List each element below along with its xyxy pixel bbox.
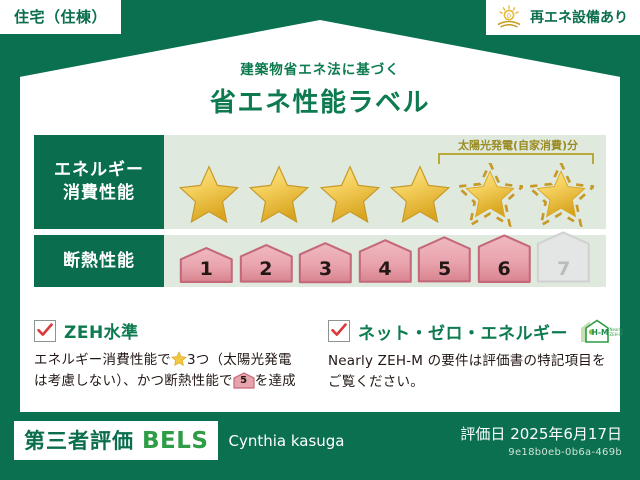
net-zero-energy-block: ネット・ゼロ・エネルギー H-M Nearly ZEH-M Nearly ZEH… [328, 318, 606, 393]
zeh-m-logo-icon: H-M Nearly ZEH-M [578, 318, 624, 344]
insulation-performance-row: 断熱性能 1234567 [34, 235, 606, 287]
renewable-badge-label: 再エネ設備あり [530, 7, 628, 27]
zeh-desc-stars: 3つ（太陽光発電 [187, 352, 292, 368]
renewable-equipment-badge: D 再エネ設備あり [486, 0, 640, 35]
insulation-grade-number: 4 [357, 258, 414, 280]
net-zero-energy-title: ネット・ゼロ・エネルギー [358, 319, 568, 344]
inline-star-icon [171, 351, 187, 367]
energy-stars [164, 163, 606, 227]
insulation-grade-house: 5 [416, 234, 473, 285]
insulation-grade-house: 1 [178, 245, 235, 285]
insulation-grade-number: 3 [297, 258, 354, 280]
energy-rating-area: 太陽光発電(自家消費)分 [164, 135, 606, 229]
zeh-standard-header: ZEH水準 [34, 318, 312, 343]
zeh-desc-part1: エネルギー消費性能で [34, 352, 171, 368]
building-owner-name: Cynthia kasuga [228, 432, 344, 450]
zeh-standard-title: ZEH水準 [64, 318, 139, 343]
zeh-standard-checkbox[interactable] [34, 320, 56, 342]
net-zero-energy-description: Nearly ZEH-M の要件は評価書の特記項目をご覧ください。 [328, 351, 606, 393]
star-icon [246, 163, 312, 227]
solar-portion-note: 太陽光発電(自家消費)分 [438, 137, 598, 153]
bels-section: 第三者評価 BELS Cynthia kasuga [14, 421, 345, 460]
solar-star-icon [457, 163, 523, 227]
energy-label-line2: 消費性能 [63, 182, 135, 205]
inline-house-badge: 5 [233, 372, 255, 389]
inline-house-number: 5 [233, 373, 255, 389]
check-icon [36, 321, 54, 339]
energy-performance-label: 住宅（住棟） D 再エネ設備あり 建築物省エネ法に基づく 省エネ性能ラベル エ [0, 0, 640, 480]
energy-performance-label-block: エネルギー 消費性能 [34, 135, 164, 229]
evaluation-id: 9e18b0eb-0b6a-469b [460, 447, 622, 458]
bels-badge: 第三者評価 BELS [14, 421, 218, 460]
svg-text:H-M: H-M [592, 328, 609, 337]
bels-jp-label: 第三者評価 [24, 425, 134, 455]
label-title: 建築物省エネ法に基づく 省エネ性能ラベル [0, 58, 640, 119]
insulation-grade-house: 7 [535, 229, 592, 285]
zeh-desc-part2: は考慮しない）、かつ断熱性能で [34, 373, 233, 389]
insulation-grade-number: 6 [476, 258, 533, 280]
title-subtitle: 建築物省エネ法に基づく [0, 58, 640, 78]
zeh-desc-part3: を達成 [255, 373, 296, 389]
title-main: 省エネ性能ラベル [0, 82, 640, 119]
evaluation-date: 評価日 2025年6月17日 [460, 423, 622, 444]
insulation-label: 断熱性能 [63, 250, 135, 273]
criteria-section: ZEH水準 エネルギー消費性能で3つ（太陽光発電 は考慮しない）、かつ断熱性能で… [34, 318, 606, 393]
sun-icon: D [494, 5, 524, 29]
performance-panel: エネルギー 消費性能 太陽光発電(自家消費)分 断熱性能 1234567 [34, 135, 606, 287]
net-zero-energy-checkbox[interactable] [328, 320, 350, 342]
insulation-grades: 1234567 [164, 235, 606, 287]
svg-text:ZEH-M: ZEH-M [609, 332, 623, 337]
insulation-grade-number: 2 [238, 258, 295, 280]
zeh-standard-block: ZEH水準 エネルギー消費性能で3つ（太陽光発電 は考慮しない）、かつ断熱性能で… [34, 318, 312, 393]
insulation-grade-number: 5 [416, 258, 473, 280]
insulation-label-block: 断熱性能 [34, 235, 164, 287]
insulation-grade-house: 2 [238, 242, 295, 285]
zeh-standard-description: エネルギー消費性能で3つ（太陽光発電 は考慮しない）、かつ断熱性能で5を達成 [34, 350, 312, 392]
star-icon [387, 163, 453, 227]
evaluation-info: 評価日 2025年6月17日 9e18b0eb-0b6a-469b [460, 423, 622, 458]
insulation-grade-number: 1 [178, 258, 235, 280]
svg-text:D: D [507, 14, 511, 20]
check-icon [330, 321, 348, 339]
insulation-rating-area: 1234567 [164, 235, 606, 287]
insulation-grade-house: 6 [476, 232, 533, 285]
energy-performance-row: エネルギー 消費性能 太陽光発電(自家消費)分 [34, 135, 606, 229]
insulation-grade-number: 7 [535, 258, 592, 280]
insulation-grade-house: 4 [357, 237, 414, 285]
insulation-grade-house: 3 [297, 240, 354, 285]
star-icon [176, 163, 242, 227]
solar-star-icon [528, 163, 594, 227]
energy-label-line1: エネルギー [54, 159, 144, 182]
star-icon [317, 163, 383, 227]
net-zero-energy-header: ネット・ゼロ・エネルギー H-M Nearly ZEH-M [328, 318, 606, 344]
bels-en-label: BELS [142, 428, 208, 454]
label-footer: 第三者評価 BELS Cynthia kasuga 評価日 2025年6月17日… [0, 412, 640, 480]
housing-type-tag: 住宅（住棟） [0, 0, 121, 34]
